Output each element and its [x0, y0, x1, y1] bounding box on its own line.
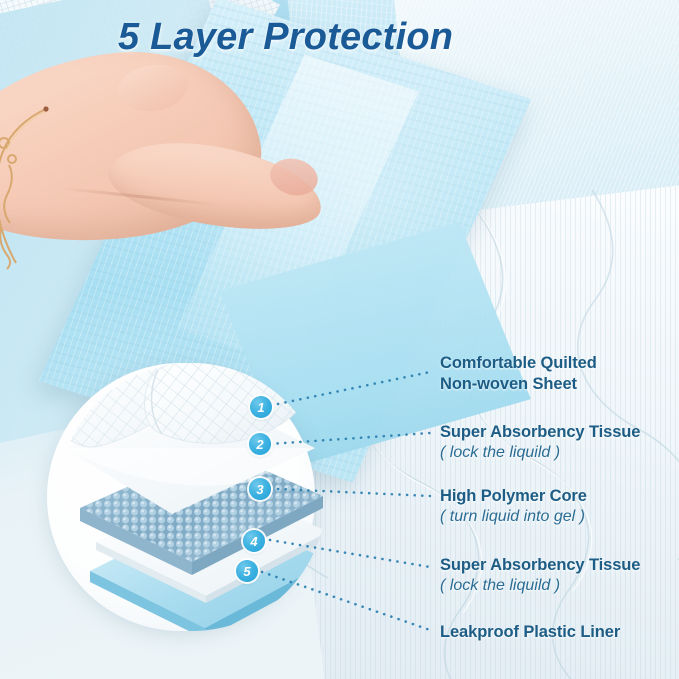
layer-2-title: Super Absorbency Tissue: [440, 422, 640, 443]
layer-cutaway-inset: [47, 363, 315, 631]
layer-label-1: Comfortable Quilted Non-woven Sheet: [440, 353, 597, 395]
layer-label-4: Super Absorbency Tissue ( lock the liqui…: [440, 555, 640, 596]
layer-4-note: ( lock the liquild ): [440, 576, 640, 596]
hand-photo: [0, 55, 340, 355]
layer-4-title: Super Absorbency Tissue: [440, 555, 640, 576]
layer-badge-3[interactable]: 3: [249, 478, 271, 500]
layer-label-3: High Polymer Core ( turn liquid into gel…: [440, 486, 587, 527]
layer-3-title: High Polymer Core: [440, 486, 587, 507]
layer-badge-1[interactable]: 1: [250, 396, 272, 418]
infographic-canvas: 5 Layer Protection: [0, 0, 679, 679]
layer-1-title-line2: Non-woven Sheet: [440, 374, 597, 395]
layer-2-note: ( lock the liquild ): [440, 443, 640, 463]
layer-label-2: Super Absorbency Tissue ( lock the liqui…: [440, 422, 640, 463]
layer-label-5: Leakproof Plastic Liner: [440, 622, 620, 643]
layer-badge-2[interactable]: 2: [249, 433, 271, 455]
layer-badge-5[interactable]: 5: [236, 560, 258, 582]
page-title: 5 Layer Protection: [118, 16, 453, 59]
layer-5-title: Leakproof Plastic Liner: [440, 622, 620, 643]
layer-badge-4[interactable]: 4: [243, 530, 265, 552]
layer-1-title: Comfortable Quilted: [440, 353, 597, 374]
layer-3-note: ( turn liquid into gel ): [440, 507, 587, 527]
bracelet-icon: [0, 103, 88, 273]
